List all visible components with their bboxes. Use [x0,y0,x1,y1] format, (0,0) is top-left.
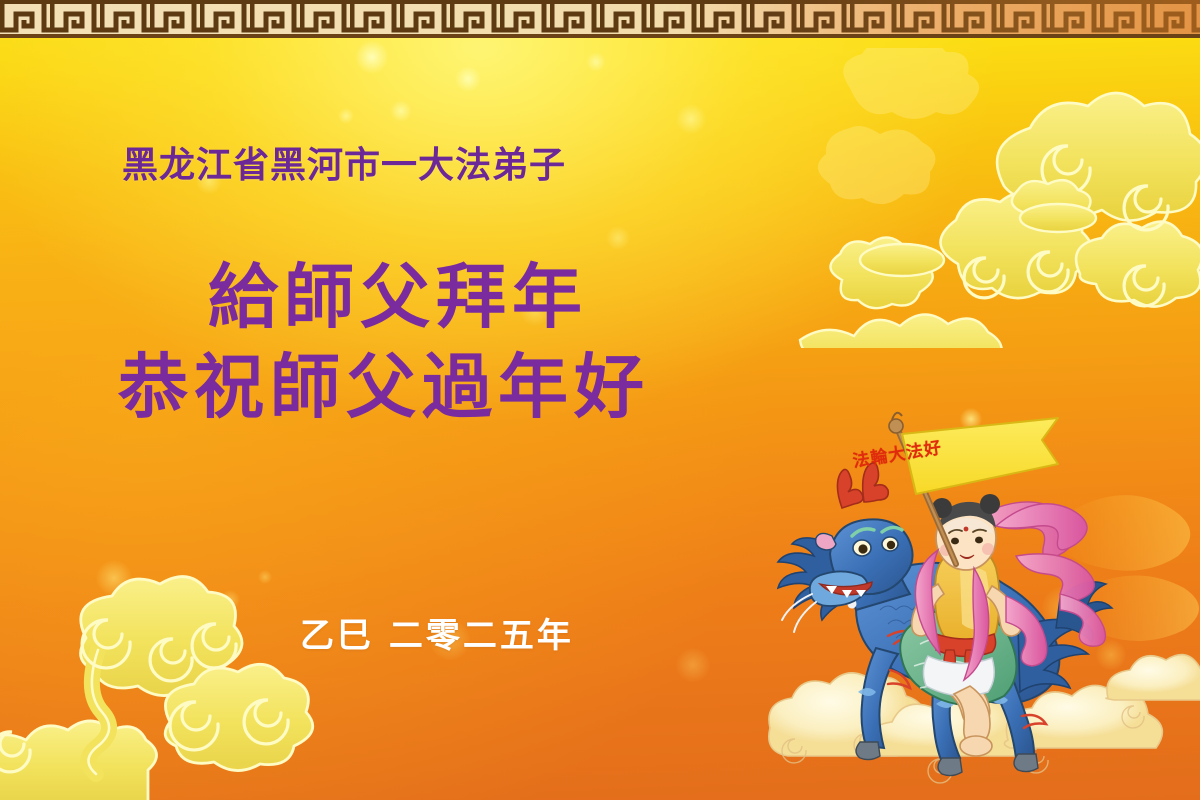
meander-pattern-icon [0,0,1200,38]
child-riding-dragon-illustration [760,398,1200,800]
date-line: 乙巳 二零二五年 [300,608,574,657]
greek-key-meander-border [0,0,1200,38]
greeting-line-1: 給師父拜年 [208,262,878,332]
cloud-decoration-bottom-left [0,572,320,800]
sender-line: 黑龙江省黑河市一大法弟子 [122,136,566,188]
greeting-card: 黑龙江省黑河市一大法弟子 給師父拜年 恭祝師父過年好 乙巳 二零二五年 [0,0,1200,800]
auspicious-cloud-icon [0,572,320,800]
child-riding-dragon-icon [760,398,1200,800]
